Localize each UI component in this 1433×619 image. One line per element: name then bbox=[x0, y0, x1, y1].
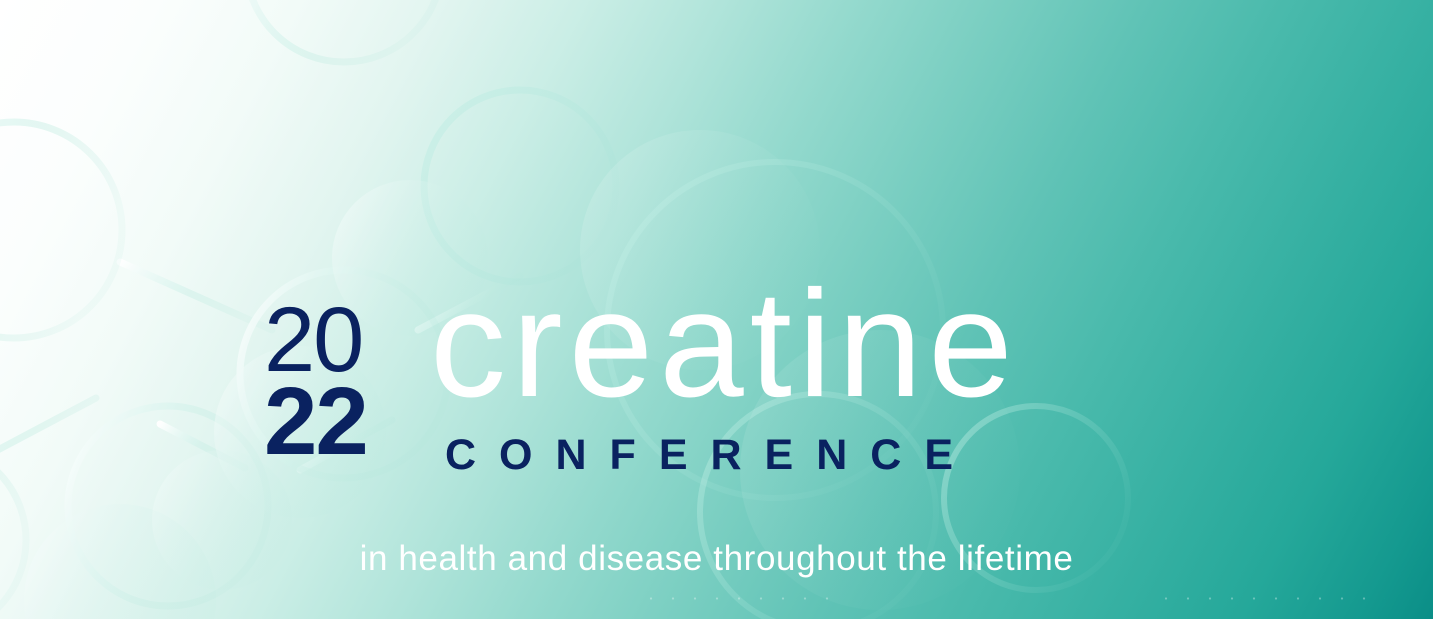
year-bottom-digits: 22 bbox=[264, 377, 424, 467]
dotted-rule-right bbox=[1155, 597, 1385, 600]
conference-label: CONFERENCE bbox=[445, 434, 976, 477]
event-tagline: in health and disease throughout the lif… bbox=[0, 539, 1433, 579]
conference-banner: 20 22 creatine CONFERENCE in health and … bbox=[0, 0, 1433, 619]
year-2022: 20 22 bbox=[264, 297, 424, 468]
creatine-wordmark: creatine bbox=[430, 268, 1019, 420]
logo-lockup: 20 22 creatine CONFERENCE in health and … bbox=[0, 0, 1433, 619]
dotted-rule-left bbox=[640, 597, 840, 600]
